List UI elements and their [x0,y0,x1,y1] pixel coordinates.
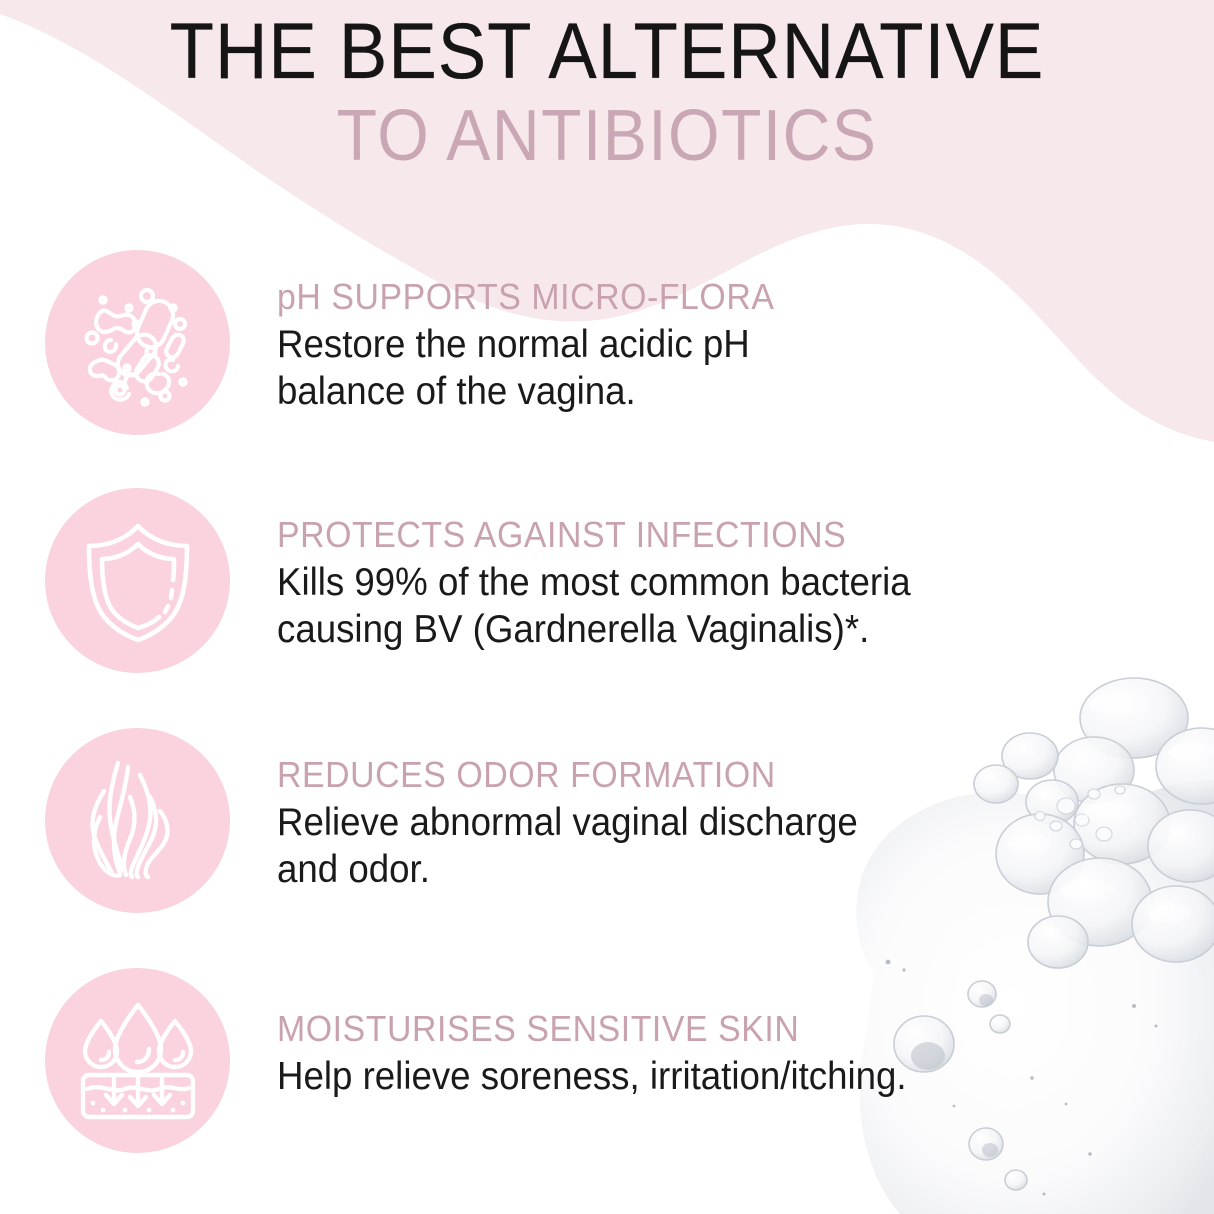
bacteria-microflora-icon [73,278,203,408]
page-subtitle: TO ANTIBIOTICS [49,96,1166,176]
feature-row: REDUCES ODOR FORMATION Relieve abnormal … [0,726,1214,966]
page-title: THE BEST ALTERNATIVE [49,8,1166,94]
feature-text: pH SUPPORTS MICRO-FLORA Restore the norm… [277,248,1214,415]
feature-heading: REDUCES ODOR FORMATION [277,754,1158,796]
feature-row: PROTECTS AGAINST INFECTIONS Kills 99% of… [0,486,1214,726]
moisture-droplets-skin-icon [73,999,203,1123]
feature-heading: MOISTURISES SENSITIVE SKIN [277,1008,1158,1050]
feature-body: Kills 99% of the most common bacteria ca… [277,559,1158,653]
feature-icon-badge [45,488,230,673]
product-infographic-poster: THE BEST ALTERNATIVE TO ANTIBIOTICS [0,0,1214,1214]
feature-icon-badge [45,968,230,1153]
feature-heading: pH SUPPORTS MICRO-FLORA [277,276,1158,318]
feature-list: pH SUPPORTS MICRO-FLORA Restore the norm… [0,248,1214,1176]
feature-icon-badge [45,728,230,913]
shield-protection-icon [75,518,201,644]
feature-body: Relieve abnormal vaginal discharge and o… [277,799,1158,893]
feature-row: MOISTURISES SENSITIVE SKIN Help relieve … [0,966,1214,1176]
feature-text: MOISTURISES SENSITIVE SKIN Help relieve … [277,966,1214,1100]
feature-row: pH SUPPORTS MICRO-FLORA Restore the norm… [0,248,1214,486]
headline-block: THE BEST ALTERNATIVE TO ANTIBIOTICS [0,8,1214,176]
feature-text: PROTECTS AGAINST INFECTIONS Kills 99% of… [277,486,1214,653]
feature-heading: PROTECTS AGAINST INFECTIONS [277,514,1158,556]
odor-waves-icon [74,757,202,885]
feature-body: Help relieve soreness, irritation/itchin… [277,1053,1158,1100]
feature-icon-badge [45,250,230,435]
feature-body: Restore the normal acidic pH balance of … [277,321,1158,415]
feature-text: REDUCES ODOR FORMATION Relieve abnormal … [277,726,1214,893]
